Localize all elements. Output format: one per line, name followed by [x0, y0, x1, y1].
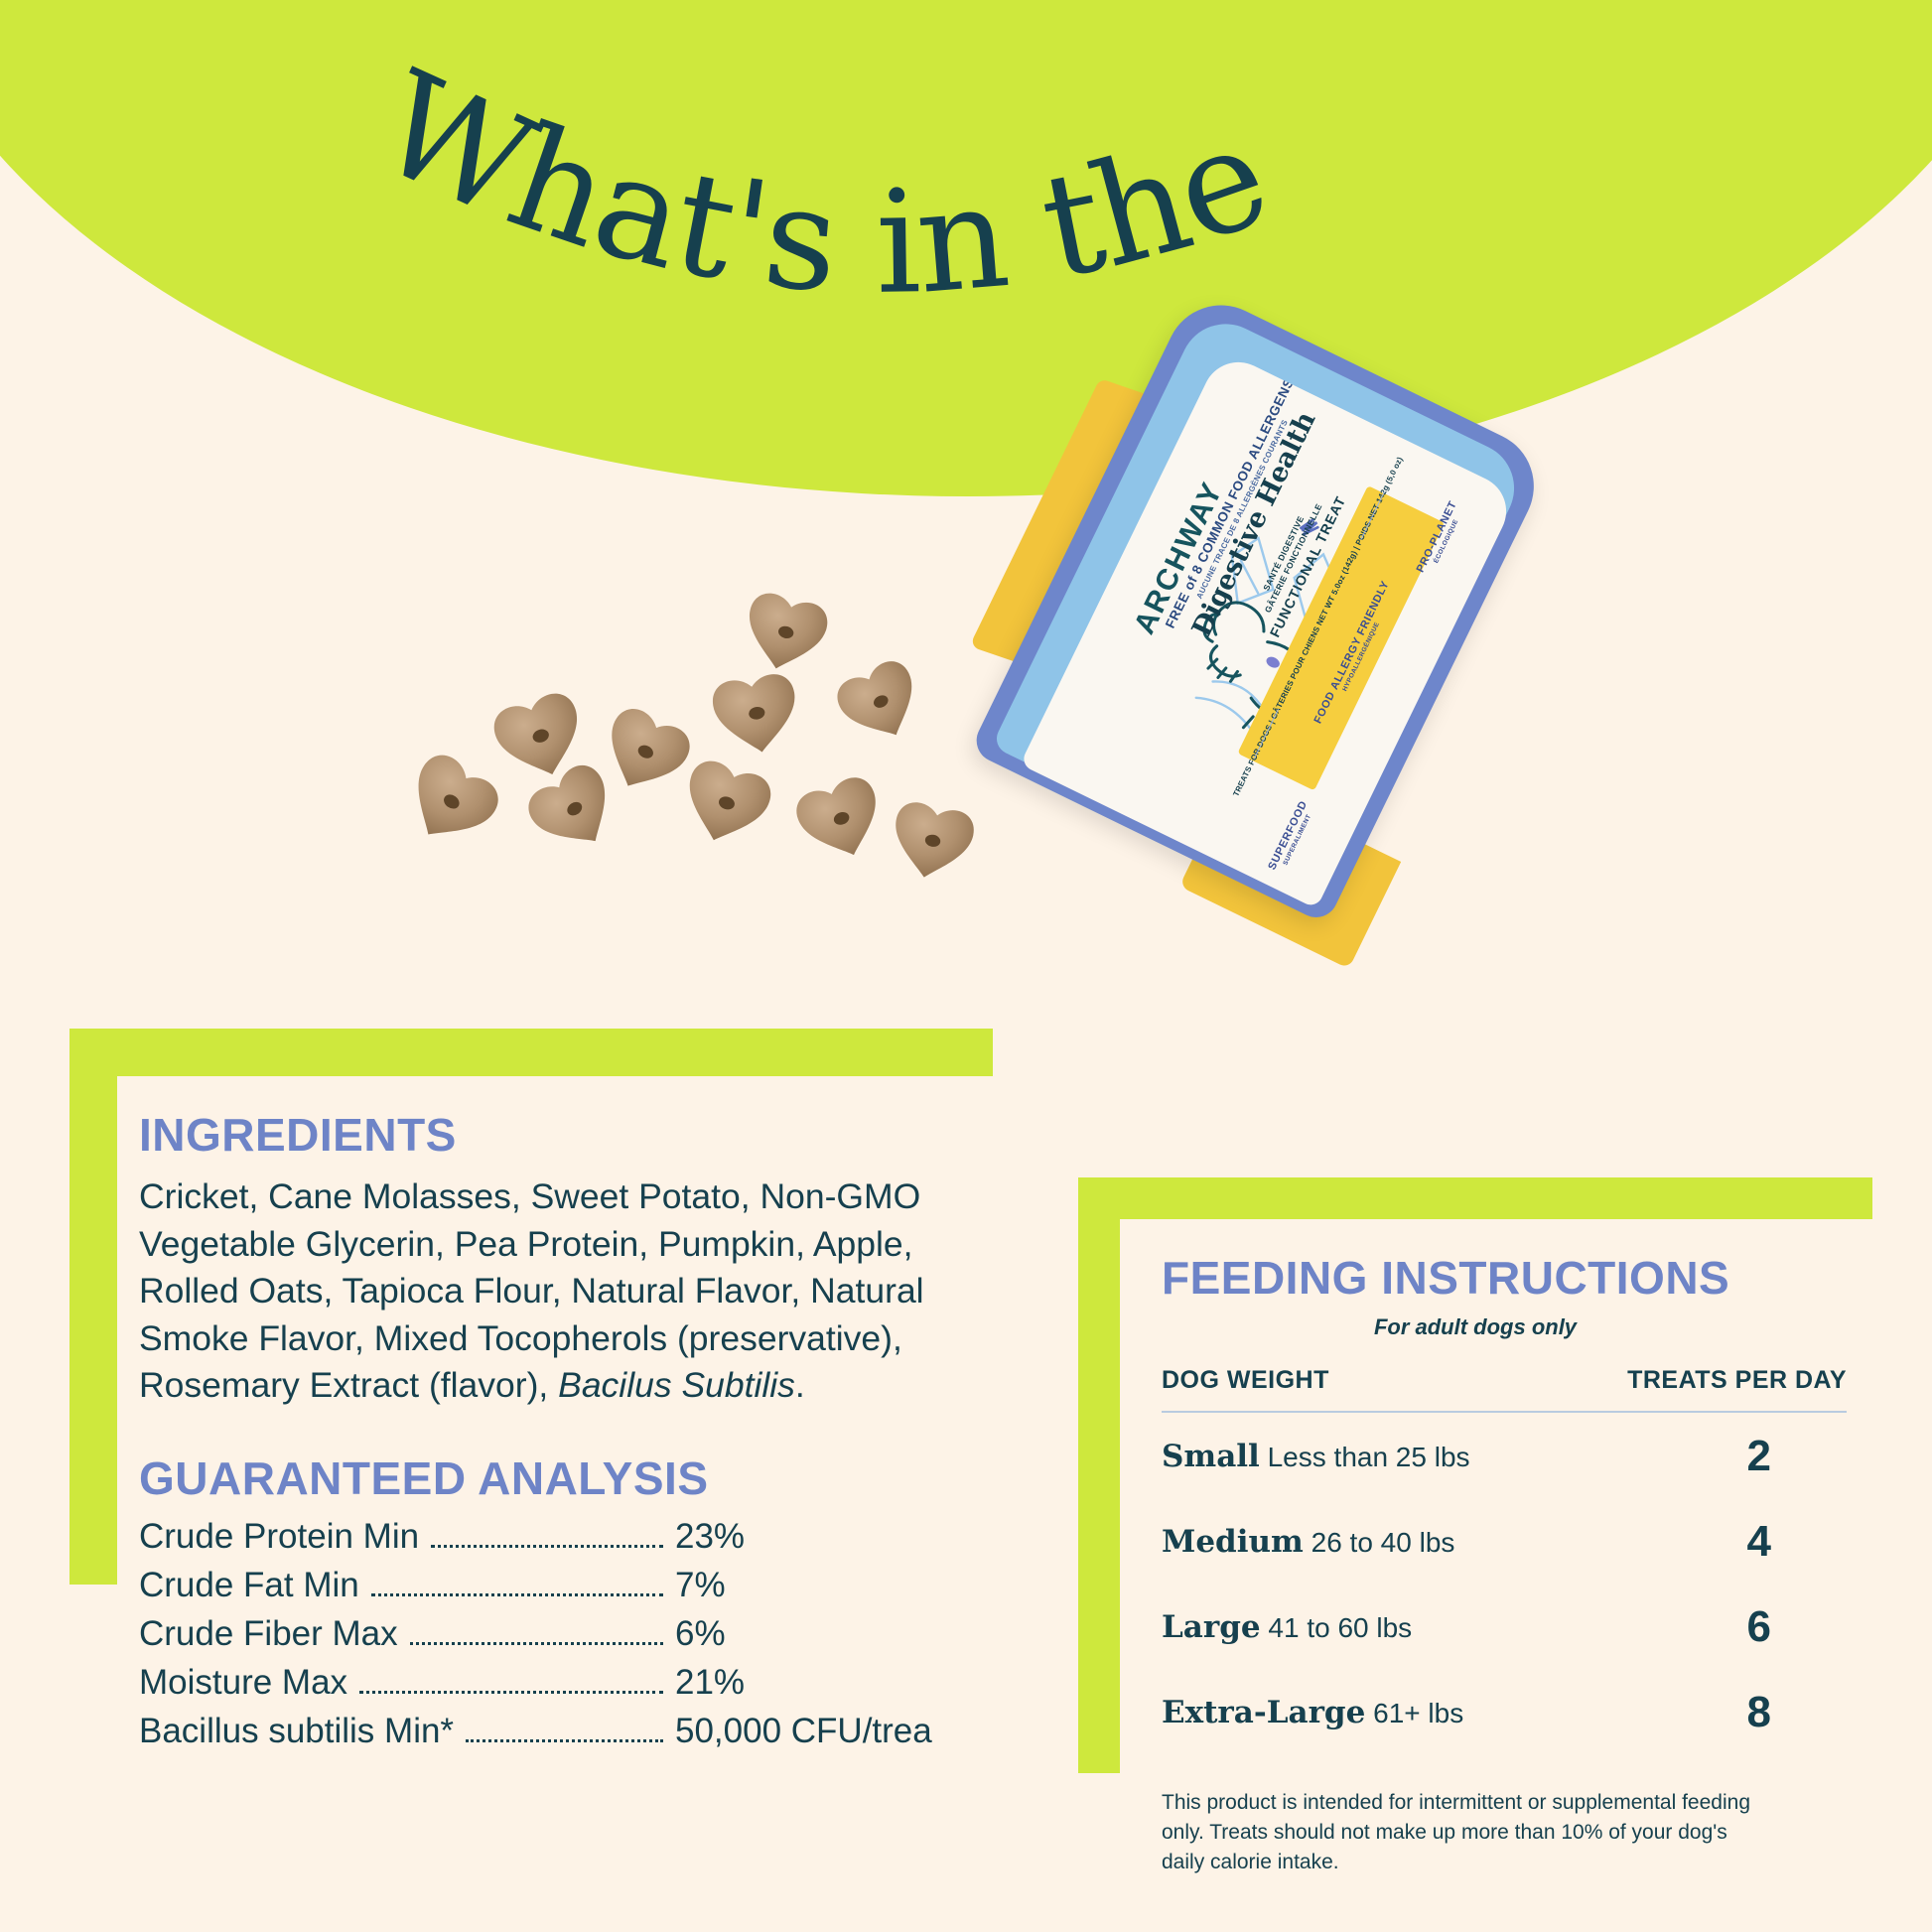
analysis-label: Moisture Max	[139, 1663, 347, 1703]
treat-piece	[886, 798, 977, 885]
analysis-value: 23%	[675, 1517, 963, 1557]
treat-piece	[521, 758, 629, 864]
analysis-label: Crude Fat Min	[139, 1566, 359, 1605]
feeding-panel: FEEDING INSTRUCTIONS For adult dogs only…	[1078, 1177, 1872, 1773]
column-header-treats: TREATS PER DAY	[1562, 1366, 1847, 1412]
table-row: Medium 26 to 40 lbs 4	[1162, 1498, 1847, 1584]
analysis-value: 6%	[675, 1614, 963, 1654]
ingredients-frame-top	[69, 1029, 993, 1076]
ingredients-text-end: .	[795, 1365, 805, 1405]
treat-piece	[710, 671, 803, 759]
weight-range: Less than 25 lbs	[1268, 1442, 1470, 1472]
weight-range: 61+ lbs	[1373, 1698, 1463, 1728]
treat-piece	[791, 771, 892, 868]
analysis-leader-dots	[359, 1691, 663, 1694]
analysis-leader-dots	[466, 1739, 663, 1742]
table-row: Small Less than 25 lbs 2	[1162, 1412, 1847, 1498]
feeding-subtitle: For adult dogs only	[1162, 1314, 1847, 1340]
analysis-value: 7%	[675, 1566, 963, 1605]
weight-cell: Extra-Large 61+ lbs	[1162, 1669, 1562, 1754]
bag-inner-border: ARCHWAY FREE of 8 COMMON FOOD ALLERGENS …	[992, 309, 1530, 904]
bag-outline: ARCHWAY FREE of 8 COMMON FOOD ALLERGENS …	[969, 287, 1552, 925]
treats-count: 8	[1562, 1669, 1847, 1754]
analysis-value: 21%	[675, 1663, 963, 1703]
treat-piece	[488, 688, 592, 787]
analysis-leader-dots	[410, 1642, 663, 1645]
analysis-label: Bacillus subtilis Min*	[139, 1712, 454, 1751]
bag-shape: ARCHWAY FREE of 8 COMMON FOOD ALLERGENS …	[969, 287, 1552, 925]
weight-cell: Small Less than 25 lbs	[1162, 1412, 1562, 1498]
ingredients-frame-left	[69, 1029, 117, 1585]
hero-banner: What's in the bag?	[0, 0, 1932, 556]
table-header-row: DOG WEIGHT TREATS PER DAY	[1162, 1366, 1847, 1412]
treat-piece	[675, 756, 776, 853]
ingredients-text-italic: Bacilus Subtilis	[558, 1365, 795, 1405]
page-title: What's in the bag?	[0, 0, 1932, 556]
product-package: ARCHWAY FREE of 8 COMMON FOOD ALLERGENS …	[1033, 328, 1588, 923]
analysis-row: Bacillus subtilis Min* 50,000 CFU/trea	[139, 1712, 963, 1751]
feeding-frame-top	[1078, 1177, 1872, 1219]
feeding-frame-left	[1078, 1177, 1120, 1773]
analysis-row: Crude Fiber Max 6%	[139, 1614, 963, 1654]
ingredients-heading: INGREDIENTS	[139, 1108, 963, 1162]
treats-count: 6	[1562, 1584, 1847, 1669]
feeding-disclaimer: This product is intended for intermitten…	[1162, 1788, 1767, 1876]
treat-piece	[831, 655, 931, 753]
treats-count: 2	[1562, 1412, 1847, 1498]
analysis-leader-dots	[371, 1593, 663, 1596]
treat-piece	[738, 589, 831, 678]
ingredients-text-main: Cricket, Cane Molasses, Sweet Potato, No…	[139, 1176, 924, 1405]
analysis-label: Crude Fiber Max	[139, 1614, 398, 1654]
analysis-list: Crude Protein Min 23% Crude Fat Min 7% C…	[139, 1517, 963, 1751]
feeding-heading: FEEDING INSTRUCTIONS	[1162, 1251, 1847, 1305]
ingredients-content: INGREDIENTS Cricket, Cane Molasses, Swee…	[139, 1108, 963, 1760]
analysis-row: Moisture Max 21%	[139, 1663, 963, 1703]
analysis-value: 50,000 CFU/trea	[675, 1712, 963, 1751]
treat-piece	[592, 702, 696, 803]
ingredients-list: Cricket, Cane Molasses, Sweet Potato, No…	[139, 1173, 933, 1410]
table-row: Extra-Large 61+ lbs 8	[1162, 1669, 1847, 1754]
dog-size-label: Extra-Large	[1162, 1695, 1365, 1730]
analysis-heading: GUARANTEED ANALYSIS	[139, 1451, 963, 1505]
page-title-text: What's in the bag?	[0, 0, 1287, 326]
feeding-content: FEEDING INSTRUCTIONS For adult dogs only…	[1162, 1251, 1847, 1876]
analysis-row: Crude Protein Min 23%	[139, 1517, 963, 1557]
dog-size-label: Small	[1162, 1439, 1260, 1474]
weight-cell: Medium 26 to 40 lbs	[1162, 1498, 1562, 1584]
analysis-row: Crude Fat Min 7%	[139, 1566, 963, 1605]
weight-cell: Large 41 to 60 lbs	[1162, 1584, 1562, 1669]
weight-range: 26 to 40 lbs	[1311, 1527, 1455, 1558]
table-row: Large 41 to 60 lbs 6	[1162, 1584, 1847, 1669]
dog-size-label: Medium	[1162, 1524, 1304, 1560]
analysis-label: Crude Protein Min	[139, 1517, 419, 1557]
treats-count: 4	[1562, 1498, 1847, 1584]
feeding-table: DOG WEIGHT TREATS PER DAY Small Less tha…	[1162, 1366, 1847, 1754]
ingredients-panel: INGREDIENTS Cricket, Cane Molasses, Swee…	[69, 1029, 993, 1585]
weight-range: 41 to 60 lbs	[1268, 1612, 1412, 1643]
treat-piece	[393, 748, 506, 859]
column-header-weight: DOG WEIGHT	[1162, 1366, 1562, 1412]
dog-size-label: Large	[1162, 1609, 1261, 1645]
analysis-leader-dots	[431, 1545, 663, 1548]
